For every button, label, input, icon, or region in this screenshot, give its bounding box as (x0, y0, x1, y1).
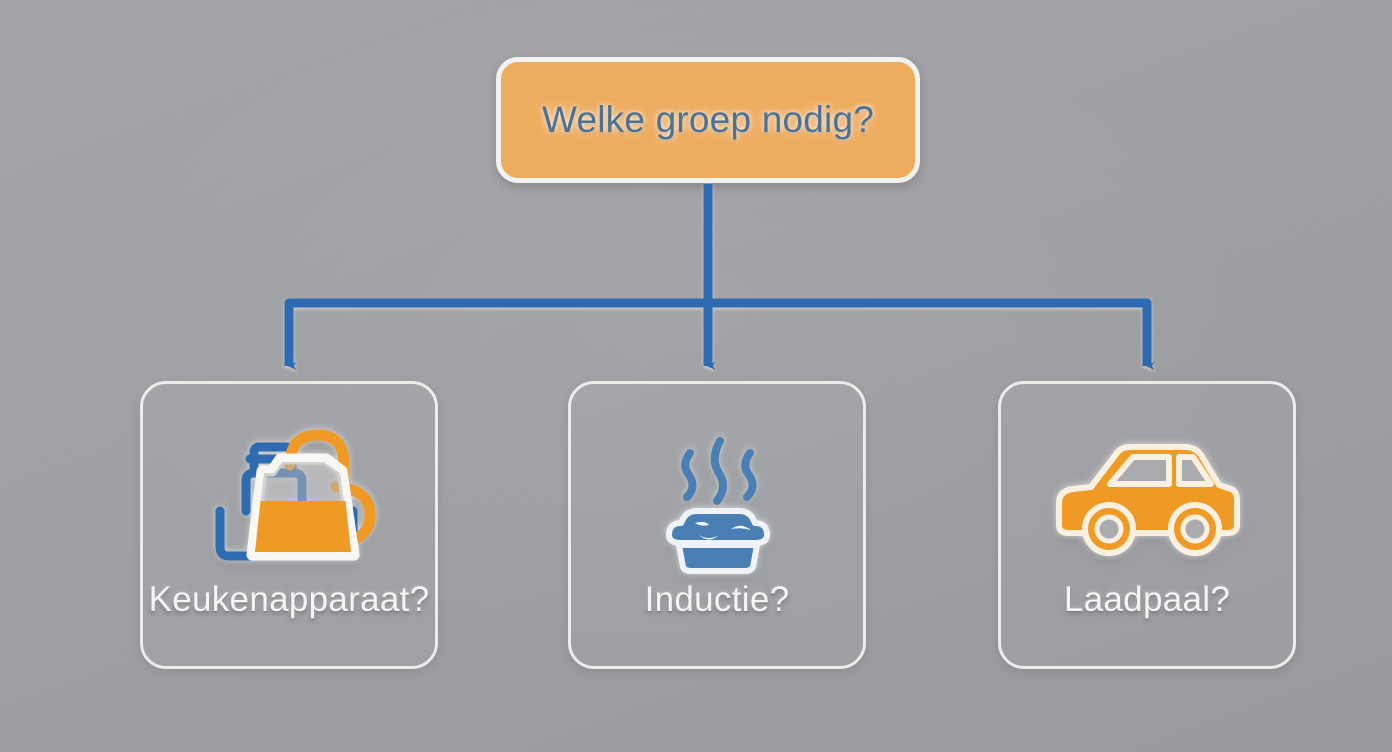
connector-branch-right (708, 303, 1147, 366)
car-icon (1001, 414, 1293, 584)
diagram-canvas: Welke groep nodig? (0, 0, 1392, 752)
option-card-label-keukenapparaat: Keukenapparaat? (125, 580, 453, 620)
root-question-node[interactable]: Welke groep nodig? (496, 57, 920, 183)
option-card-keukenapparaat[interactable]: Keukenapparaat? (140, 381, 438, 669)
option-card-label-inductie: Inductie? (553, 580, 881, 620)
root-question-label: Welke groep nodig? (542, 99, 874, 141)
option-card-label-laadpaal: Laadpaal? (983, 580, 1311, 620)
option-card-inductie[interactable]: Inductie? (568, 381, 866, 669)
steaming-pan-icon (571, 414, 863, 584)
kettle-jug-icon (143, 414, 435, 584)
connector-branch-left (289, 303, 708, 366)
option-card-laadpaal[interactable]: Laadpaal? (998, 381, 1296, 669)
